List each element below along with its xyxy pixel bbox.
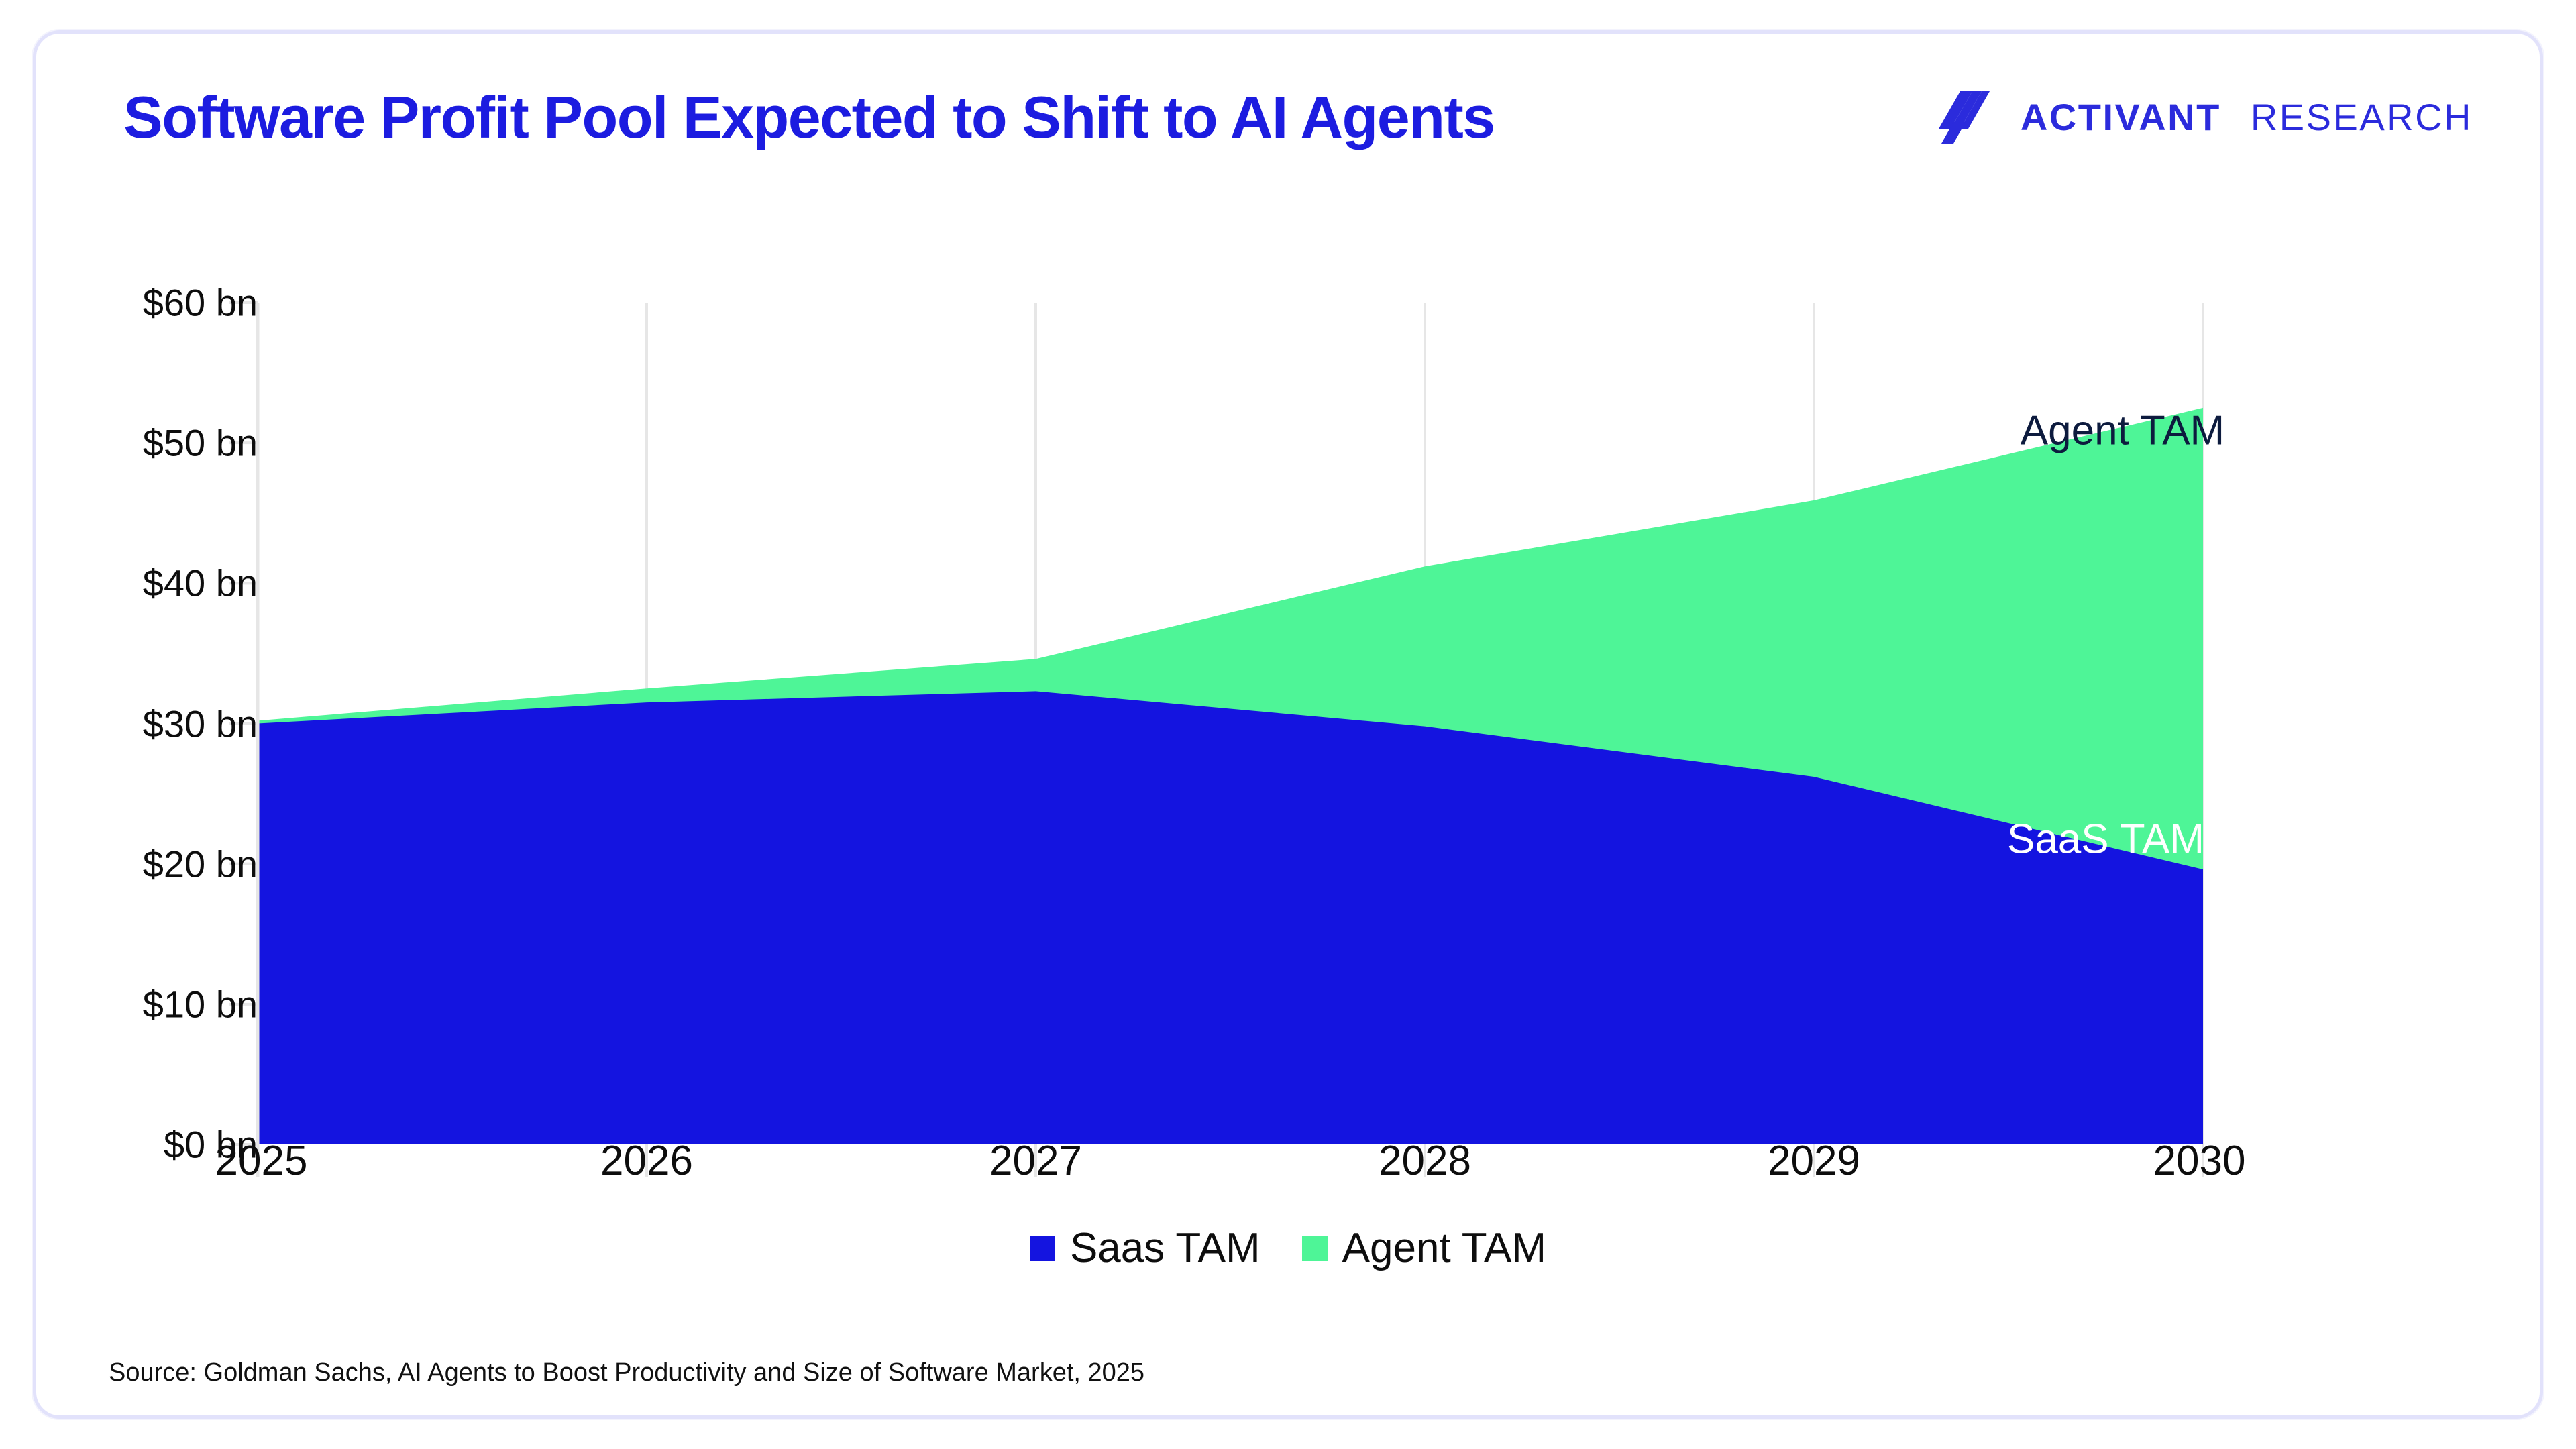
brand-word-secondary: RESEARCH: [2251, 99, 2473, 136]
brand-word-primary: ACTIVANT: [2021, 99, 2221, 136]
y-tick-label-20: $20 bn: [143, 842, 258, 885]
area-chart-svg: [36, 201, 2543, 1248]
y-tick-label-30: $30 bn: [143, 702, 258, 745]
page-title: Software Profit Pool Expected to Shift t…: [123, 88, 1495, 147]
card-header: Software Profit Pool Expected to Shift t…: [36, 34, 2540, 201]
brand-logo: ACTIVANT RESEARCH: [1928, 80, 2473, 154]
legend-label: Saas TAM: [1070, 1228, 1260, 1269]
legend-swatch-icon: [1030, 1236, 1055, 1261]
x-tick-label-2029: 2029: [1768, 1137, 1860, 1185]
x-tick-label-2030: 2030: [2153, 1137, 2246, 1185]
x-tick-label-2028: 2028: [1379, 1137, 1471, 1185]
legend-item-agent-tam[interactable]: Agent TAM: [1302, 1228, 1546, 1269]
source-note: Source: Goldman Sachs, AI Agents to Boos…: [109, 1358, 1144, 1387]
legend-label: Agent TAM: [1342, 1228, 1546, 1269]
y-tick-label-10: $10 bn: [143, 982, 258, 1026]
chart-card: Software Profit Pool Expected to Shift t…: [33, 30, 2543, 1419]
y-tick-label-40: $40 bn: [143, 561, 258, 605]
y-tick-label-50: $50 bn: [143, 421, 258, 465]
legend-item-saas-tam[interactable]: Saas TAM: [1030, 1228, 1260, 1269]
y-tick-label-60: $60 bn: [143, 281, 258, 325]
x-tick-label-2025: 2025: [215, 1137, 308, 1185]
activant-stripes-icon: [1928, 80, 2002, 154]
plot-region: $0 bn$10 bn$20 bn$30 bn$40 bn$50 bn$60 b…: [36, 201, 2543, 1248]
x-tick-label-2027: 2027: [989, 1137, 1082, 1185]
x-tick-label-2026: 2026: [600, 1137, 693, 1185]
areas-layer: [258, 408, 2203, 1144]
legend-swatch-icon: [1302, 1236, 1328, 1261]
chart-legend: Saas TAMAgent TAM: [36, 1228, 2540, 1269]
